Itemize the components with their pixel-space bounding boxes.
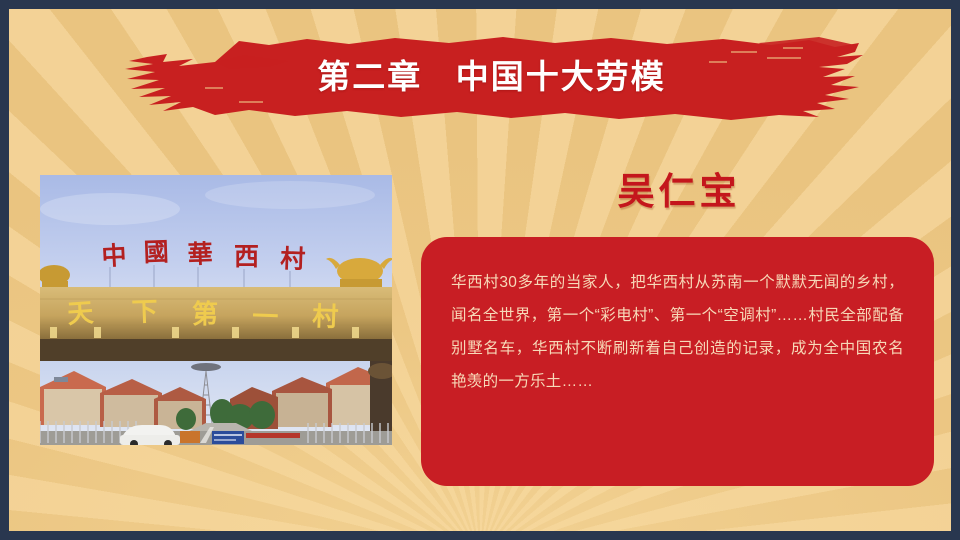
svg-text:西: 西 xyxy=(234,244,259,271)
page-title: 第二章 中国十大劳模 xyxy=(119,49,864,105)
svg-text:村: 村 xyxy=(312,302,339,332)
description-panel: 华西村30多年的当家人，把华西村从苏南一个默默无闻的乡村，闻名全世界，第一个“彩… xyxy=(421,237,934,486)
svg-text:第: 第 xyxy=(192,299,218,329)
road-sign xyxy=(212,431,244,444)
description-text: 华西村30多年的当家人，把华西村从苏南一个默默无闻的乡村，闻名全世界，第一个“彩… xyxy=(451,266,904,398)
svg-text:華: 華 xyxy=(187,240,213,269)
person-name-heading: 吴仁宝 xyxy=(429,161,929,215)
svg-text:中: 中 xyxy=(101,242,127,271)
svg-text:國: 國 xyxy=(143,239,169,267)
svg-text:村: 村 xyxy=(280,245,306,274)
slide-canvas: 第二章 中国十大劳模 吴仁宝 xyxy=(0,0,960,540)
village-archway-photo: 中 國 華 西 村 xyxy=(40,175,392,445)
svg-text:下: 下 xyxy=(131,297,158,327)
svg-text:天: 天 xyxy=(66,298,94,329)
photo-illustration: 中 國 華 西 村 xyxy=(40,175,392,445)
svg-text:一: 一 xyxy=(252,302,279,332)
